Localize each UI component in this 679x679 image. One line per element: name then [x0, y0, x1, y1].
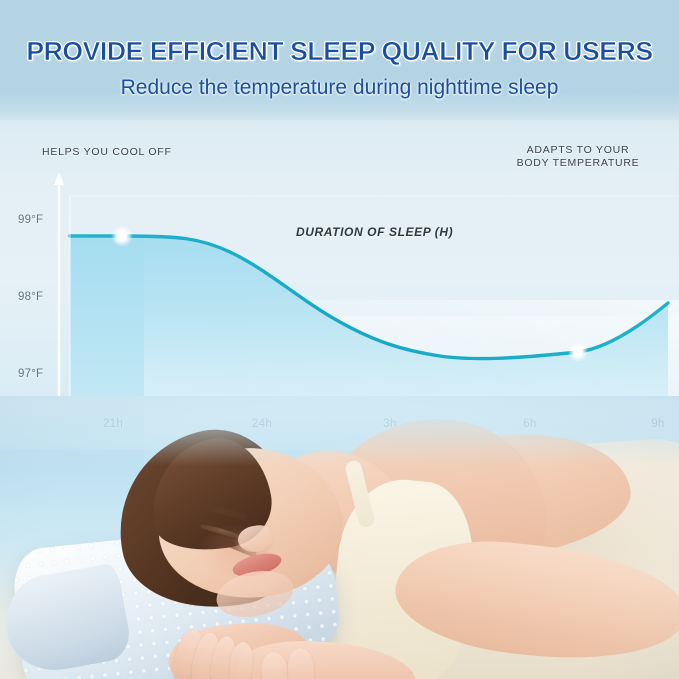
y-tick-label-97: 97°F — [18, 368, 43, 380]
y-tick-label-99: 99°F — [18, 214, 43, 226]
y-tick-label-98: 98°F — [18, 291, 43, 303]
lifestyle-photo: MOIR — [0, 396, 679, 679]
callout-adapts-line2: BODY TEMPERATURE — [498, 157, 658, 170]
photo-top-fade — [0, 396, 679, 466]
y-axis-arrowhead — [54, 172, 64, 185]
callout-adapts-line1: ADAPTS TO YOUR — [498, 144, 658, 157]
product-infographic: PROVIDE EFFICIENT SLEEP QUALITY FOR USER… — [0, 0, 679, 679]
marker-dot-right[interactable] — [574, 348, 581, 355]
callout-helps-you-cool-off: HELPS YOU COOL OFF — [42, 146, 202, 159]
chart-series-label: DURATION OF SLEEP (H) — [296, 225, 453, 239]
marker-dot-left[interactable] — [118, 232, 126, 240]
